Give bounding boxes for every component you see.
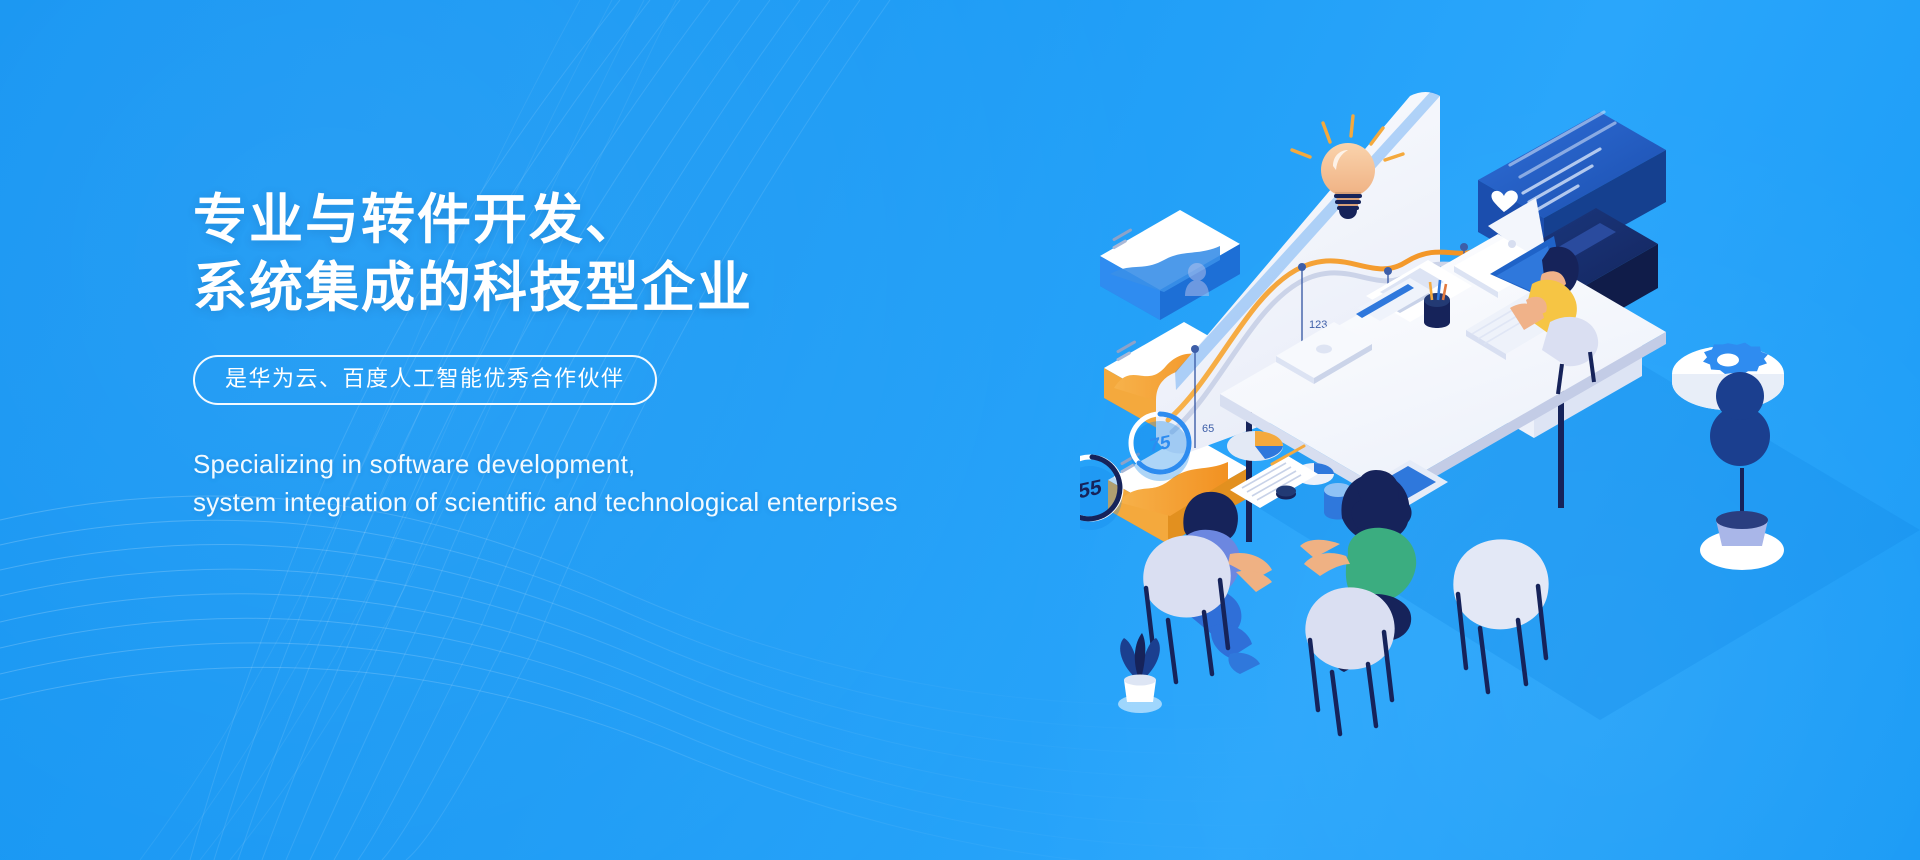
mini-card-1 xyxy=(1100,210,1240,320)
pie-chart-large xyxy=(1227,431,1283,463)
hero-banner: 专业与转件开发、 系统集成的科技型企业 是华为云、百度人工智能优秀合作伙伴 Sp… xyxy=(0,0,1920,860)
headline-line-2: 系统集成的科技型企业 xyxy=(193,254,953,322)
isometric-office-scene: 65 123 97 81 xyxy=(1080,60,1920,800)
badge-row: 是华为云、百度人工智能优秀合作伙伴 xyxy=(193,355,953,405)
subtitle: Specializing in software development, sy… xyxy=(193,445,953,521)
gauge-75: 75 xyxy=(1130,414,1190,481)
hero-content: 专业与转件开发、 系统集成的科技型企业 是华为云、百度人工智能优秀合作伙伴 Sp… xyxy=(193,186,953,521)
page-title: 专业与转件开发、 系统集成的科技型企业 xyxy=(193,186,953,322)
headline-line-1: 专业与转件开发、 xyxy=(193,186,953,254)
plant-small-center xyxy=(1118,633,1162,713)
subtitle-line-1: Specializing in software development, xyxy=(193,445,953,483)
chart-label-65: 65 xyxy=(1202,423,1214,435)
partner-badge: 是华为云、百度人工智能优秀合作伙伴 xyxy=(193,355,657,405)
gauge-55: 55 xyxy=(1080,457,1122,530)
subtitle-line-2: system integration of scientific and tec… xyxy=(193,483,953,521)
hero-illustration: 65 123 97 81 xyxy=(1080,60,1920,800)
